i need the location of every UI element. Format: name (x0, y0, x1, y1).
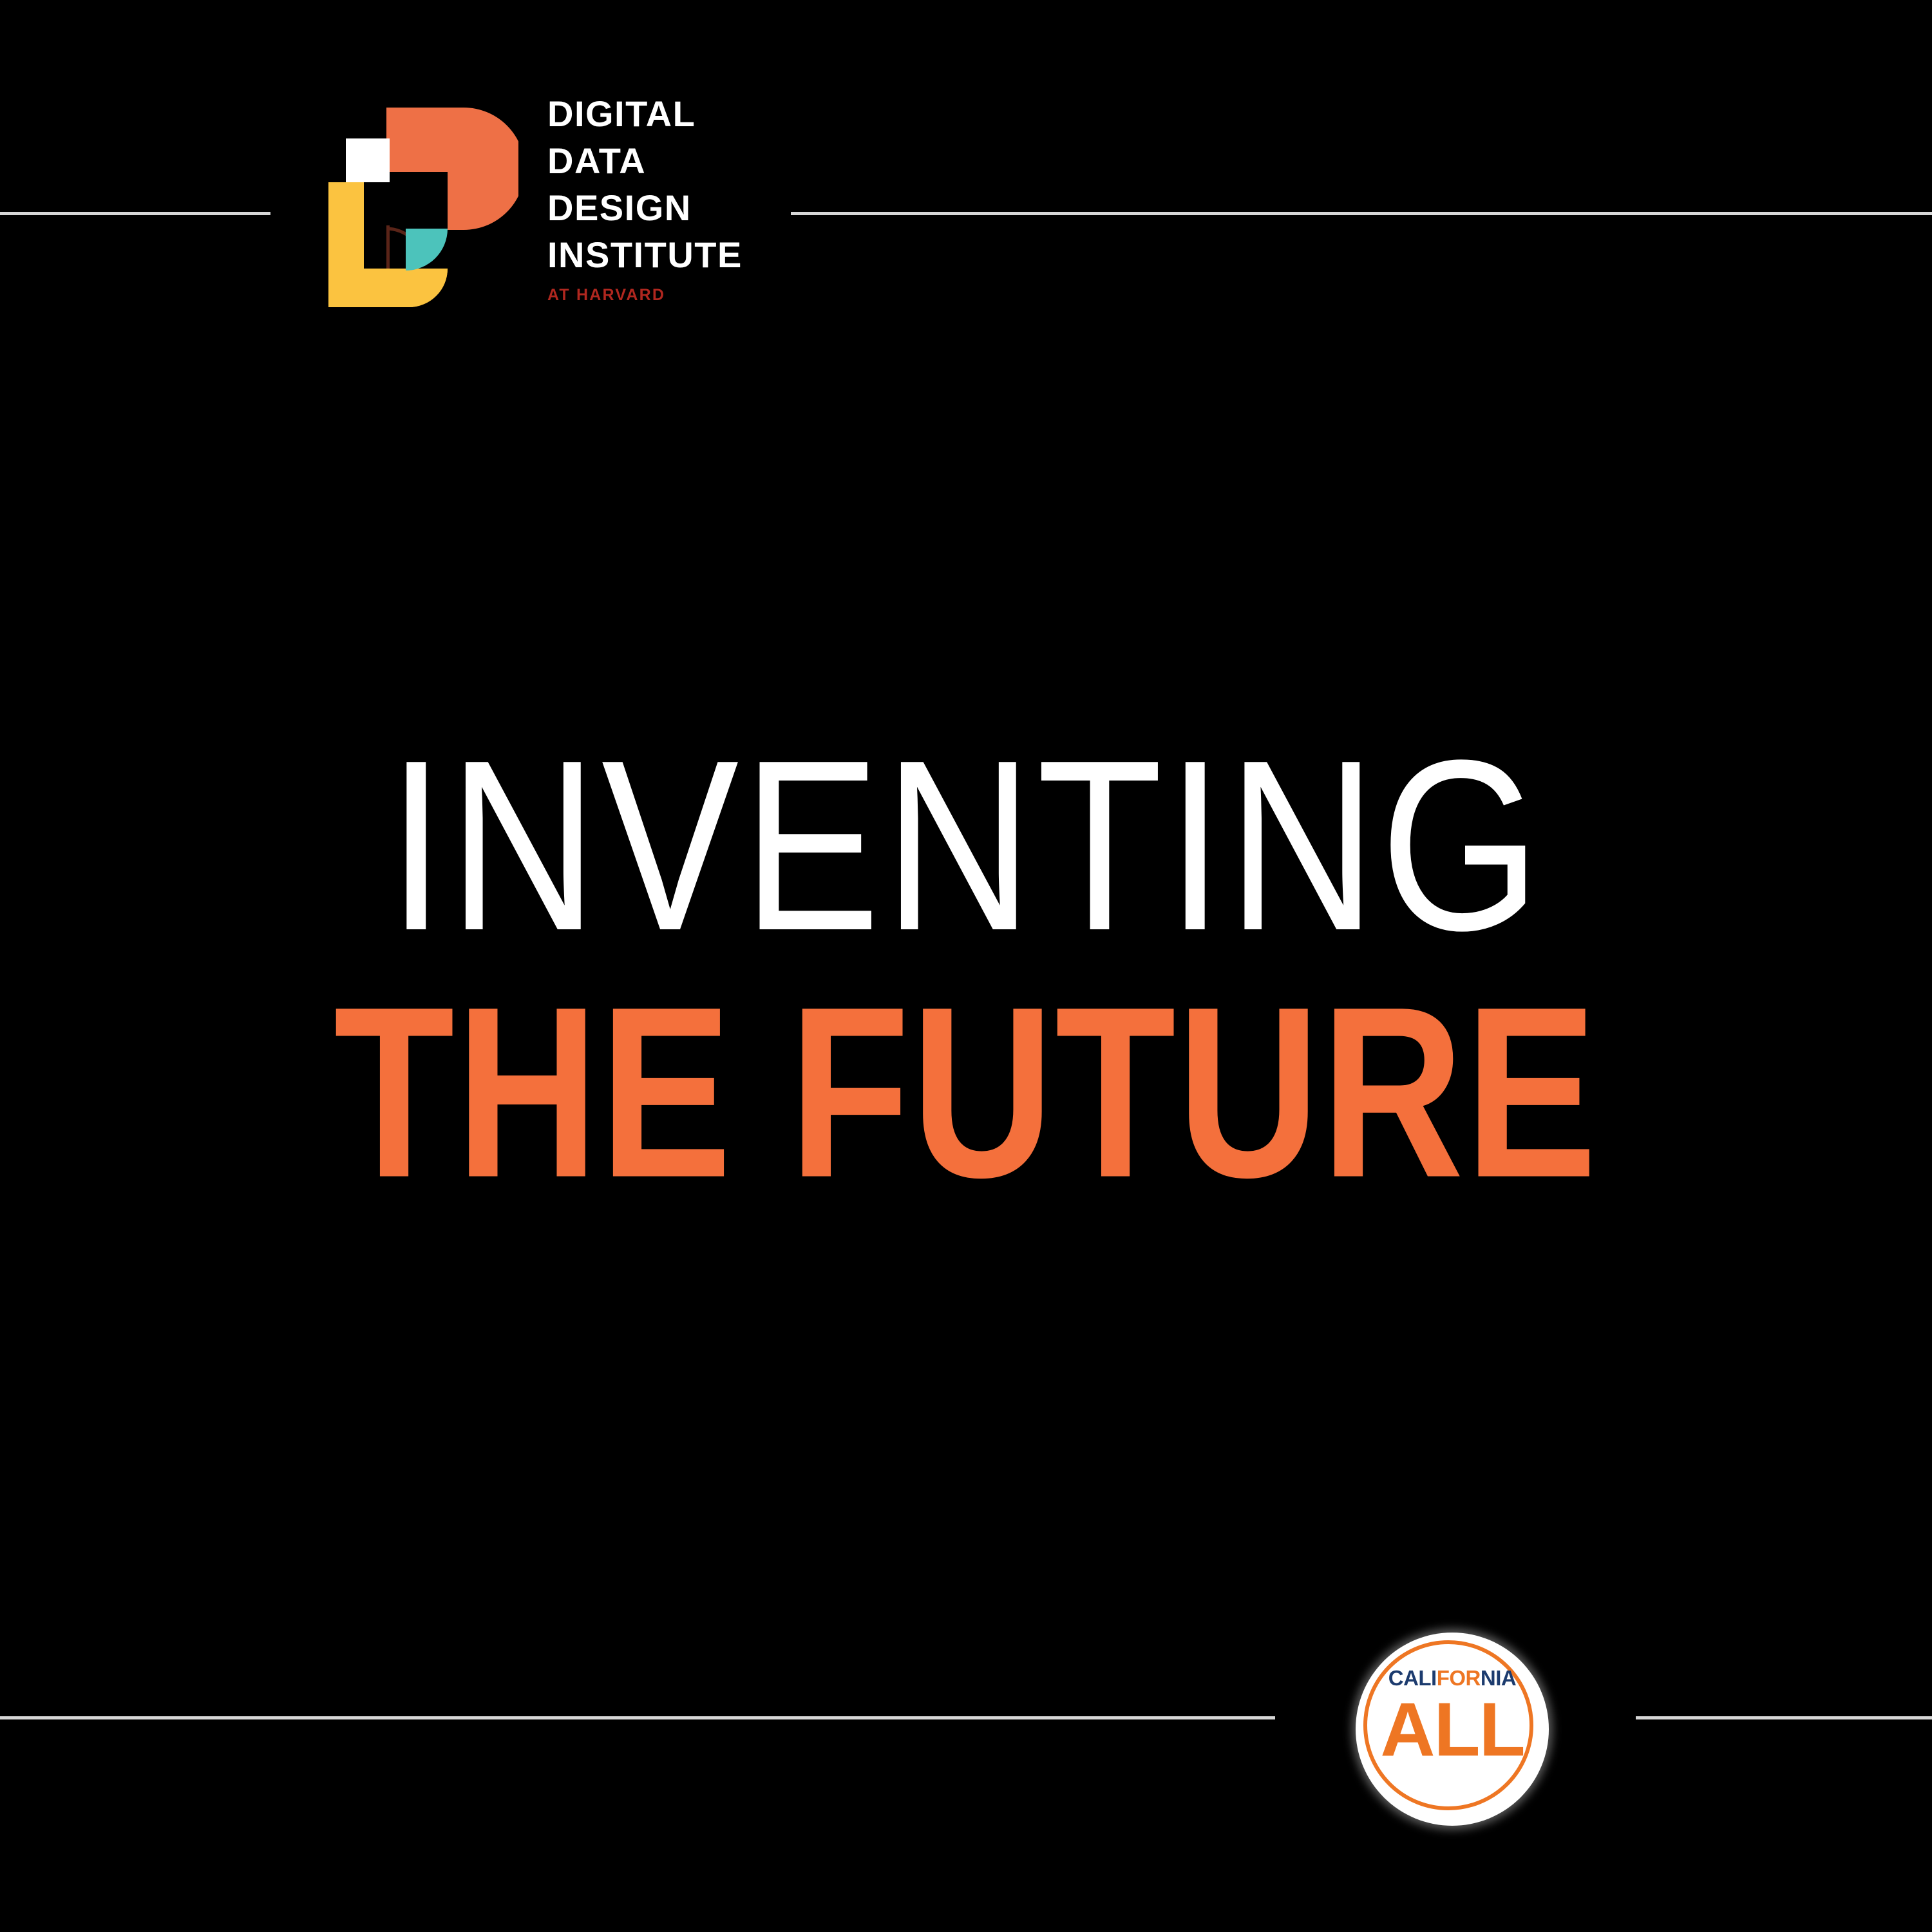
white-square (346, 138, 390, 182)
slide-canvas: DIGITAL DATA DESIGN INSTITUTE AT HARVARD… (0, 0, 1932, 1932)
badge-text-nia: NIA (1481, 1666, 1516, 1690)
d3-logo-mark-icon (325, 100, 518, 312)
wordmark-line-design: DESIGN (547, 184, 779, 231)
divider-top-right (791, 212, 1932, 215)
badge-text-cali: CALI (1388, 1666, 1437, 1690)
d3-institute-logo: DIGITAL DATA DESIGN INSTITUTE AT HARVARD (325, 90, 776, 348)
wordmark-line-data: DATA (547, 137, 779, 184)
wordmark-affiliation: AT HARVARD (547, 282, 779, 308)
badge-all-text: ALL (1356, 1692, 1549, 1768)
divider-bottom-left (0, 1716, 1275, 1719)
divider-bottom-right (1636, 1716, 1932, 1719)
wordmark-line-institute: INSTITUTE (547, 231, 779, 278)
divider-top-left (0, 212, 270, 215)
headline-line-two: THE FUTURE (10, 974, 1922, 1210)
d3-wordmark: DIGITAL DATA DESIGN INSTITUTE AT HARVARD (547, 90, 779, 308)
page-title: INVENTING THE FUTURE (0, 731, 1932, 1168)
california-for-all-badge: CALIFORNIA ALL (1356, 1633, 1549, 1826)
headline-line-one: INVENTING (0, 731, 1932, 959)
badge-text-for: FOR (1437, 1666, 1481, 1690)
wordmark-line-digital: DIGITAL (547, 90, 779, 137)
